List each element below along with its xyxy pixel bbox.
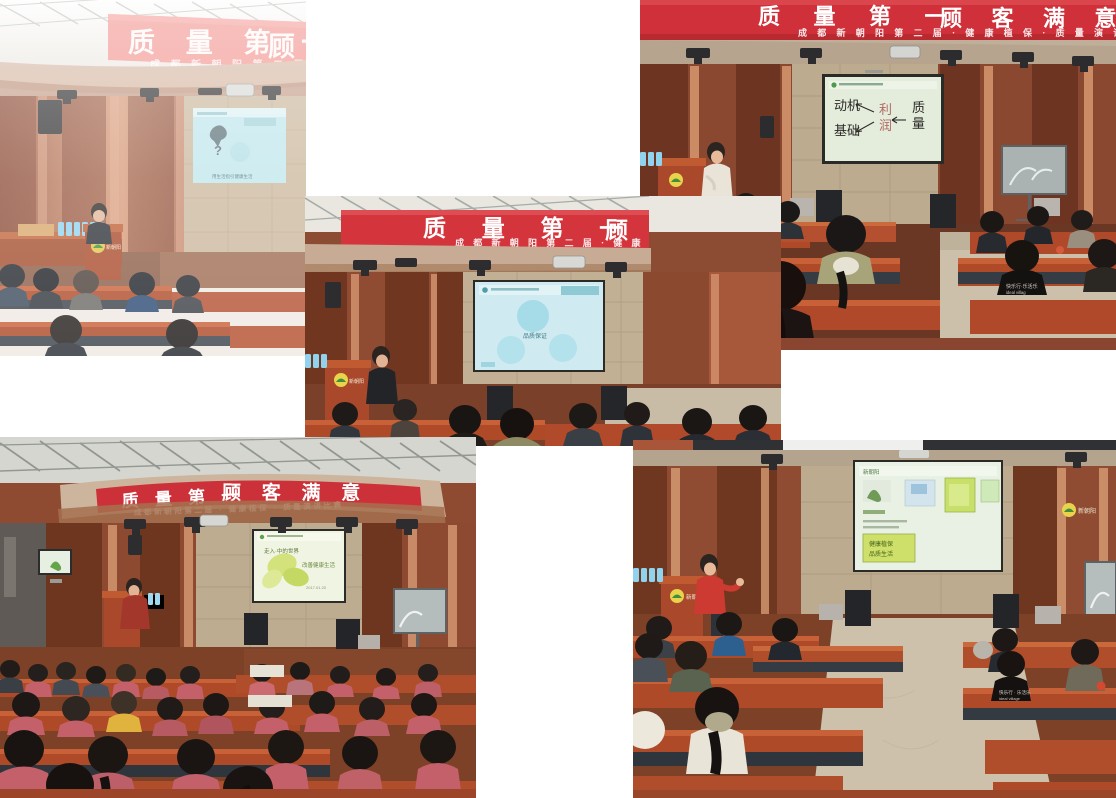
photo-middle[interactable]: 质 量 第 一 顾 成 都 新 朝 阳 第 二 届 · 健 康 [305, 196, 781, 446]
svg-text:用生活指引健康生活: 用生活指引健康生活 [212, 173, 253, 180]
svg-text:改善健康生活: 改善健康生活 [302, 561, 336, 569]
photo-bottom-left[interactable]: 质 量 第 一 顾 客 满 意 成都新朝阳第二届 · 健康植保 · 质量演讲比赛 [0, 437, 476, 798]
svg-text:基础: 基础 [834, 123, 860, 138]
photo-bottom-right-graphic: 新朝阳 新朝阳 [633, 440, 1116, 798]
svg-text:品质生活: 品质生活 [869, 550, 893, 558]
svg-text:利: 利 [879, 102, 892, 117]
photo-bottom-right[interactable]: 新朝阳 新朝阳 [633, 440, 1116, 798]
svg-text:快乐行·乐活乐: 快乐行·乐活乐 [1006, 283, 1038, 290]
photo-top-left-graphic: 质 量 第 一 顾 成 都 新 朝 阳 第 二 届 · 健 康 [0, 0, 306, 356]
svg-text:量: 量 [912, 116, 925, 131]
svg-text:成 都 新 朝 阳 第 二 届 · 健 康 植 保 · 质: 成 都 新 朝 阳 第 二 届 · 健 康 植 保 · 质 量 演 讲 比 赛 [798, 27, 1116, 38]
svg-text:质 量 第 一: 质 量 第 一 [758, 4, 961, 29]
svg-text:2017.01.20: 2017.01.20 [306, 585, 327, 590]
svg-text:健康植保: 健康植保 [869, 540, 893, 548]
svg-text:ideal villag: ideal villag [1006, 290, 1026, 295]
svg-text:?: ? [214, 143, 222, 158]
svg-text:ideal village: ideal village [999, 696, 1021, 701]
svg-text:顾: 顾 [268, 32, 295, 62]
photo-middle-graphic: 质 量 第 一 顾 成 都 新 朝 阳 第 二 届 · 健 康 [305, 196, 781, 446]
collage-canvas: 质 量 第 一 顾 成 都 新 朝 阳 第 二 届 · 健 康 [0, 0, 1116, 798]
svg-text:走入·中的世界: 走入·中的世界 [264, 547, 299, 555]
svg-text:新朝阳: 新朝阳 [349, 378, 364, 385]
photo-top-left[interactable]: 质 量 第 一 顾 成 都 新 朝 阳 第 二 届 · 健 康 [0, 0, 306, 356]
svg-text:新朝阳: 新朝阳 [1078, 507, 1096, 515]
svg-text:品质保证: 品质保证 [523, 332, 547, 340]
svg-text:新朝阳: 新朝阳 [106, 244, 121, 251]
svg-text:质: 质 [912, 100, 925, 115]
svg-text:快乐行 · 乐活乐: 快乐行 · 乐活乐 [999, 689, 1031, 696]
svg-text:新朝阳: 新朝阳 [863, 468, 880, 476]
svg-text:润: 润 [879, 118, 892, 133]
photo-bottom-left-graphic: 质 量 第 一 顾 客 满 意 成都新朝阳第二届 · 健康植保 · 质量演讲比赛 [0, 437, 476, 798]
